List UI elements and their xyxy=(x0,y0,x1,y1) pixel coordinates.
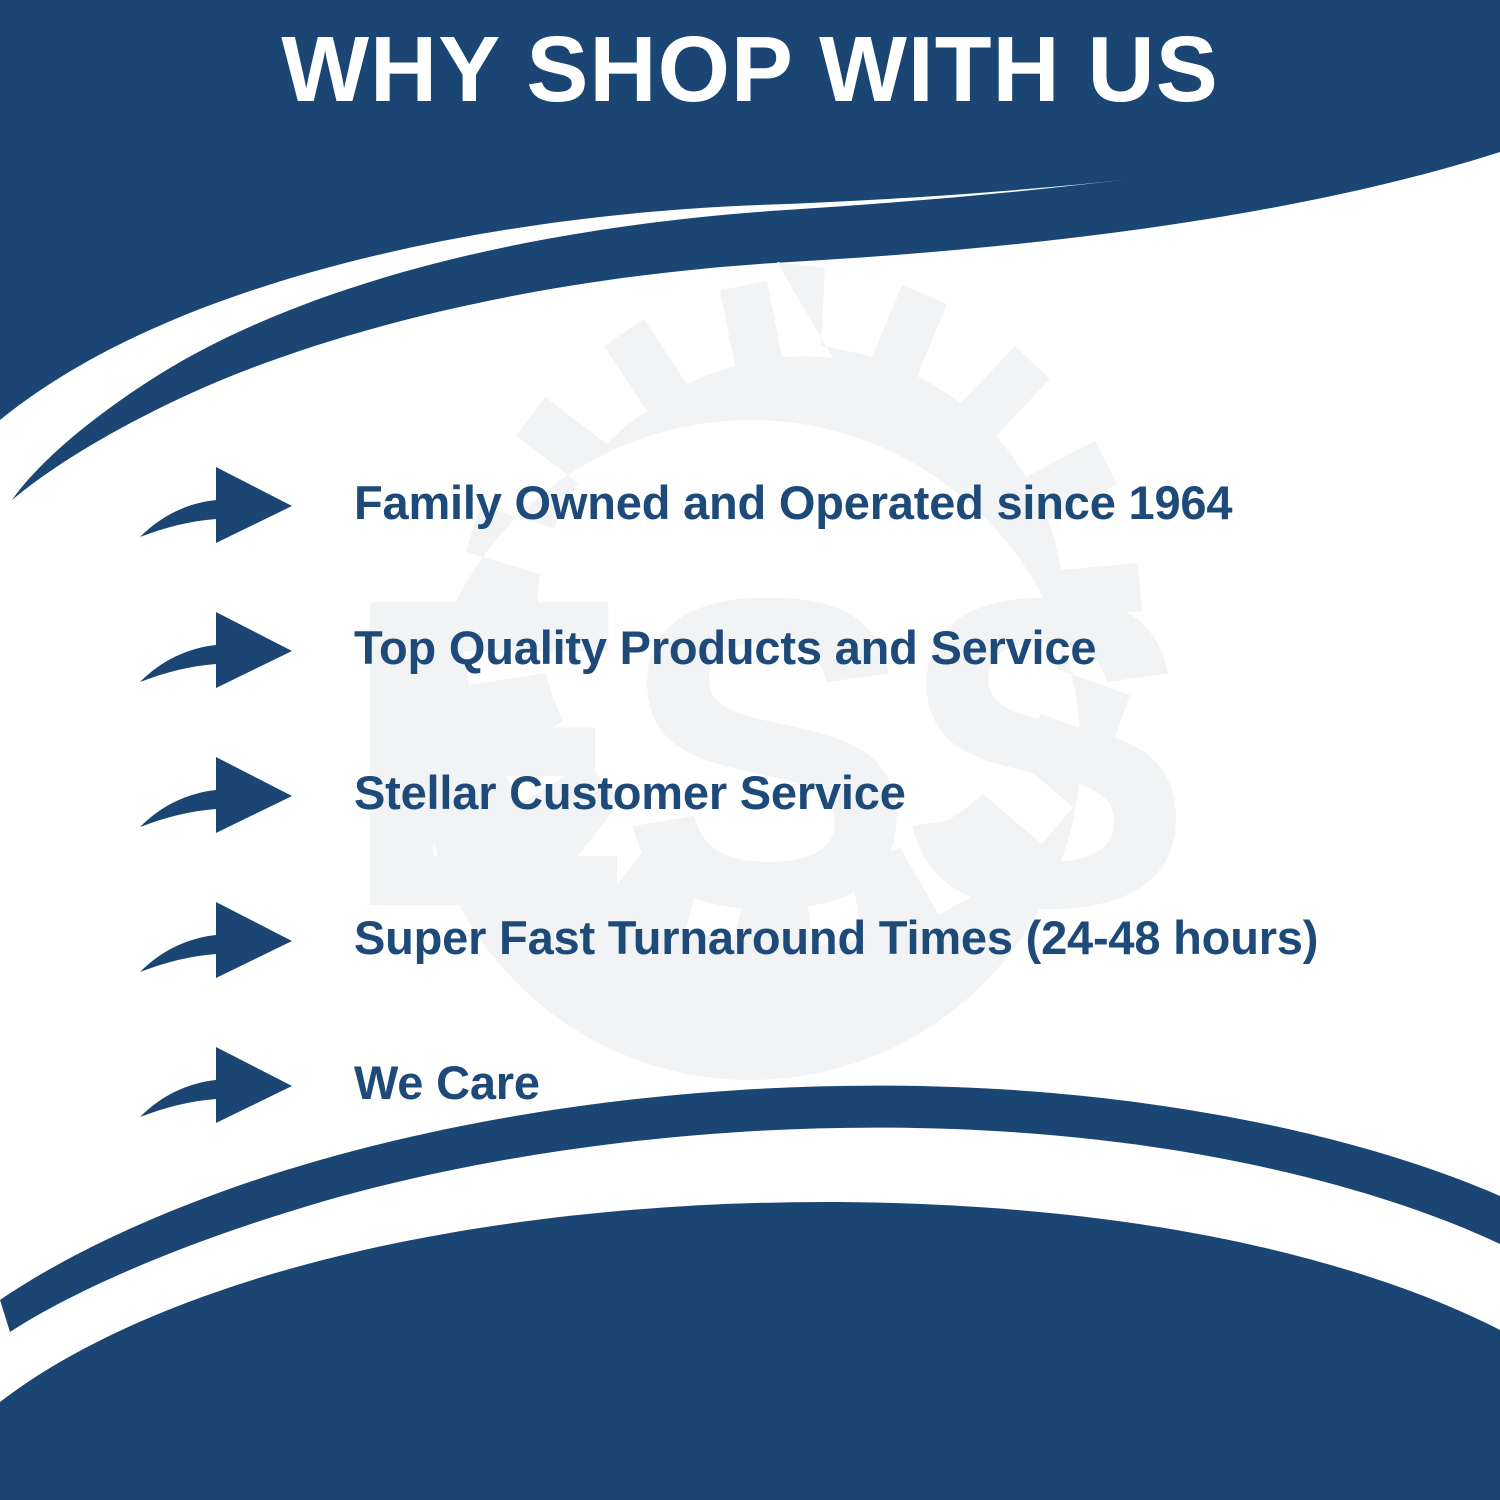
curved-arrow-right-icon xyxy=(140,612,292,688)
list-item-label: Super Fast Turnaround Times (24-48 hours… xyxy=(354,913,1318,962)
list-item: Super Fast Turnaround Times (24-48 hours… xyxy=(140,867,1440,1012)
list-item-label: Family Owned and Operated since 1964 xyxy=(354,478,1232,527)
list-item-label: We Care xyxy=(354,1058,540,1107)
bottom-blue-band xyxy=(0,1202,1500,1500)
curved-arrow-right-icon xyxy=(140,757,292,833)
benefits-list: Family Owned and Operated since 1964 Top… xyxy=(140,432,1440,1157)
list-item: We Care xyxy=(140,1012,1440,1157)
curved-arrow-right-icon xyxy=(140,1047,292,1123)
curved-arrow-right-icon xyxy=(140,902,292,978)
list-item-label: Top Quality Products and Service xyxy=(354,623,1096,672)
list-item: Stellar Customer Service xyxy=(140,722,1440,867)
promo-graphic: ESS WHY SHOP WITH US Family Owned and Op… xyxy=(0,0,1500,1500)
curved-arrow-right-icon xyxy=(140,467,292,543)
list-item-label: Stellar Customer Service xyxy=(354,768,906,817)
list-item: Family Owned and Operated since 1964 xyxy=(140,432,1440,577)
list-item: Top Quality Products and Service xyxy=(140,577,1440,722)
